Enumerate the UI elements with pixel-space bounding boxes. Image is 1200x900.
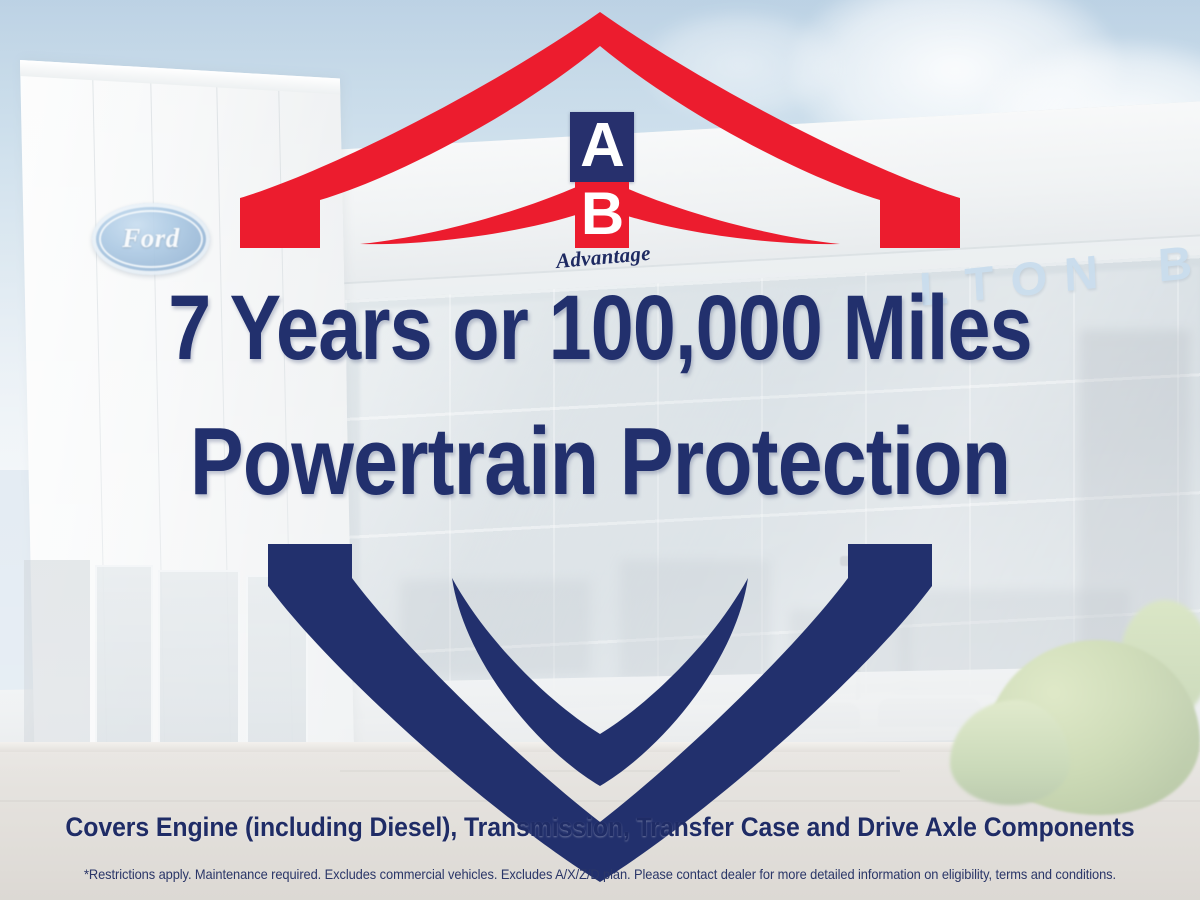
legal-disclaimer: *Restrictions apply. Maintenance require… <box>48 866 1152 882</box>
logo-letter-a: A <box>570 112 634 182</box>
coverage-statement: Covers Engine (including Diesel), Transm… <box>48 812 1152 843</box>
glass-reflection-blob <box>620 560 770 680</box>
logo-letter-b: B <box>575 182 629 248</box>
logo-script-advantage: Advantage <box>555 241 649 274</box>
glass-reflection-blob <box>400 580 590 675</box>
headline-line-1: 7 Years or 100,000 Miles <box>96 286 1104 371</box>
ford-logo-wordmark: Ford <box>92 203 210 275</box>
ford-logo-icon: Ford <box>92 203 210 275</box>
pavement-seam <box>340 770 900 772</box>
promo-banner: Ford L T O N B L A <box>0 0 1200 900</box>
cloud <box>640 10 840 120</box>
headline-line-2: Powertrain Protection <box>96 418 1104 506</box>
light-pole-head <box>840 556 874 566</box>
ab-advantage-logo: A B Advantage <box>556 112 648 270</box>
signage-letter: B <box>1157 234 1193 292</box>
